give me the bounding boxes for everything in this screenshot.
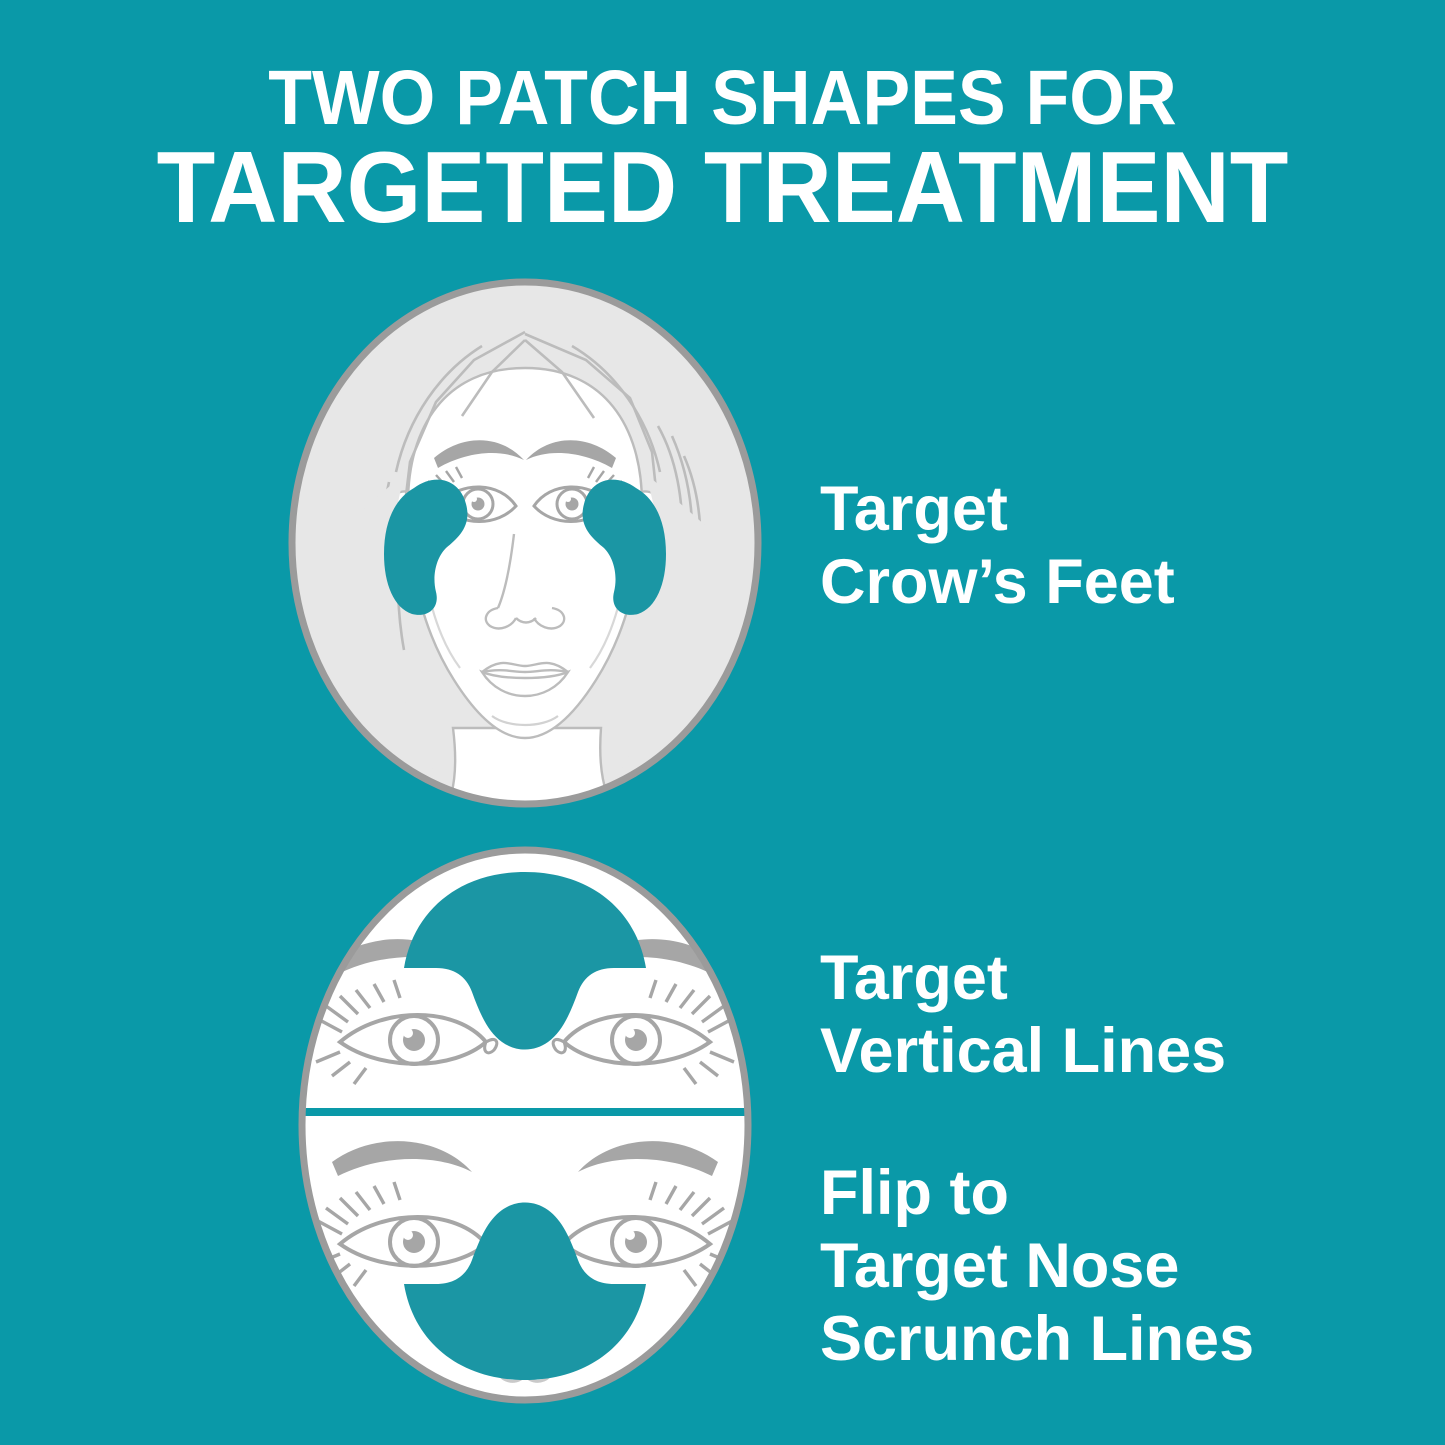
caption-nose-scrunch-line-1: Flip to [820, 1157, 1254, 1230]
caption-crows-feet-line-2: Crow’s Feet [820, 546, 1175, 619]
caption-nose-scrunch: Flip to Target Nose Scrunch Lines [820, 1157, 1254, 1376]
half-divider-band [296, 1108, 754, 1116]
crows-feet-figure [286, 276, 764, 810]
title-line-1: TWO PATCH SHAPES FOR [51, 62, 1395, 135]
caption-crows-feet: Target Crow’s Feet [820, 473, 1175, 619]
caption-vertical-lines: Target Vertical Lines [820, 942, 1226, 1088]
caption-nose-scrunch-line-3: Scrunch Lines [820, 1303, 1254, 1376]
title-line-2: TARGETED TREATMENT [36, 141, 1409, 237]
caption-vertical-lines-line-1: Target [820, 942, 1226, 1015]
caption-vertical-lines-line-2: Vertical Lines [820, 1015, 1226, 1088]
page-title: TWO PATCH SHAPES FOR TARGETED TREATMENT [0, 62, 1445, 237]
caption-crows-feet-line-1: Target [820, 473, 1175, 546]
glabella-nose-figure [296, 846, 754, 1404]
infographic-poster: TWO PATCH SHAPES FOR TARGETED TREATMENT [0, 0, 1445, 1445]
caption-nose-scrunch-line-2: Target Nose [820, 1230, 1254, 1303]
